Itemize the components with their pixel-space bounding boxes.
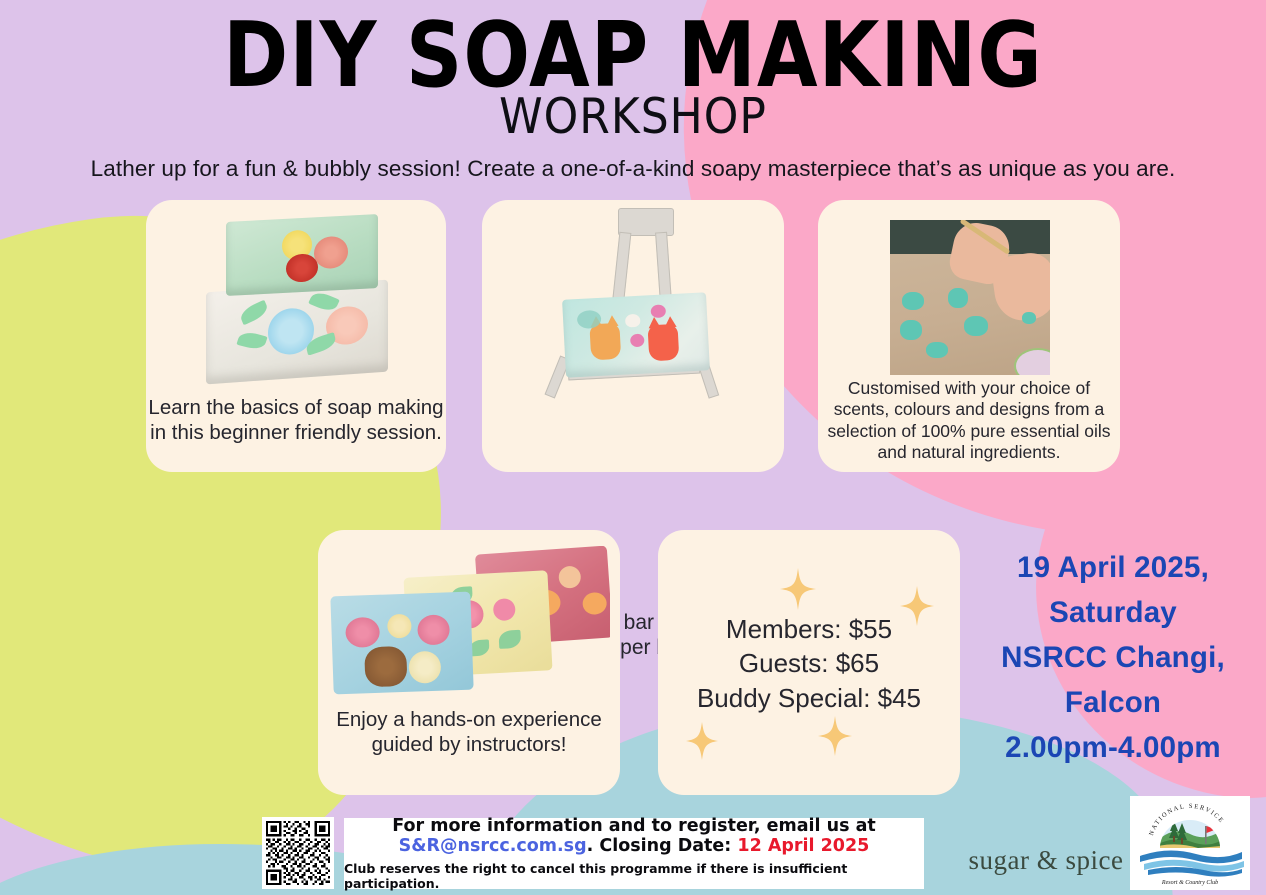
red-rose-decor [286,253,318,283]
event-venue-room: Falcon [968,680,1258,725]
price-members: Members: $55 [658,612,960,646]
soap-bar-top [226,214,378,296]
card-caption: Customised with your choice of scents, c… [818,378,1120,463]
shell-decor [417,614,450,645]
blue-soap-bar [330,592,473,695]
footer-disclaimer: Club reserves the right to cancel this p… [344,861,924,891]
clay-piece [948,288,968,308]
clay-piece [900,320,922,340]
clay-piece [964,316,988,336]
leaf-decor [238,300,270,326]
price-guests: Guests: $65 [658,646,960,680]
card-hands-on: Enjoy a hands-on experience guided by in… [318,530,620,795]
pink-heart-decor [630,334,645,348]
footer-closing-label: . Closing Date: [587,836,738,856]
registration-email-link[interactable]: S&R@nsrcc.com.sg [399,836,587,856]
three-decorated-soap-bars-photo [328,546,610,696]
event-time: 2.00pm-4.00pm [968,725,1258,770]
sparkle-icon [686,722,718,760]
footer-info-box: For more information and to register, em… [344,818,924,889]
leaf-decor [498,630,521,649]
flower-decor [493,598,516,621]
closing-date-value: 12 April 2025 [737,836,869,856]
event-date: 19 April 2025, [968,545,1258,590]
cat-soap-on-easel-photo [526,208,740,400]
shell-decor [387,614,412,639]
clay-piece [902,292,924,310]
footer-line-1: For more information and to register, em… [392,816,876,837]
starfish-decor [364,646,407,687]
card-caption: Learn the basics of soap making in this … [146,396,446,445]
event-details: 19 April 2025, Saturday NSRCC Changi, Fa… [968,545,1258,770]
fish-decor [582,592,607,616]
leaf-decor [236,330,267,351]
flower-decor [558,565,581,588]
shell-decor [408,651,441,684]
dish [1014,348,1050,375]
white-heart-decor [625,314,641,328]
card-pricing: Members: $55 Guests: $65 Buddy Special: … [658,530,960,795]
registration-qr-code[interactable] [262,817,334,889]
event-day: Saturday [968,590,1258,635]
hands-crafting-soap-photo [890,220,1050,375]
clay-piece [1022,312,1036,324]
red-cat-decor [648,324,680,362]
card-create-bar: Create 1 bar of soap (80g per bar) [482,200,784,472]
stacked-floral-soap-bars-photo [198,214,394,392]
orange-cat-decor [589,323,621,361]
sparkle-icon [818,716,852,756]
poster-canvas: DIY SOAP MAKING WORKSHOP Lather up for a… [0,0,1266,895]
sugar-and-spice-logo: sugar & spice [966,845,1126,876]
card-customised: Customised with your choice of scents, c… [818,200,1120,472]
card-caption: Enjoy a hands-on experience guided by in… [318,708,620,757]
footer-line-2: S&R@nsrcc.com.sg. Closing Date: 12 April… [399,836,870,858]
poster-subtitle: WORKSHOP [0,88,1266,145]
event-venue: NSRCC Changi, [968,635,1258,680]
pricing-list: Members: $55 Guests: $65 Buddy Special: … [658,612,960,715]
club-sub-text: Resort & Country Club [1161,880,1218,886]
card-learn-basics: Learn the basics of soap making in this … [146,200,446,472]
clay-piece [926,342,948,358]
nsrcc-club-logo: NATIONAL SERVICE Resort & Country Club [1130,796,1250,890]
cat-soap-bar [562,292,710,377]
price-buddy: Buddy Special: $45 [658,681,960,715]
poster-tagline: Lather up for a fun & bubbly session! Cr… [0,156,1266,182]
pink-rose-decor [314,236,348,270]
sparkle-icon [780,568,816,610]
rose-decor [345,617,380,648]
